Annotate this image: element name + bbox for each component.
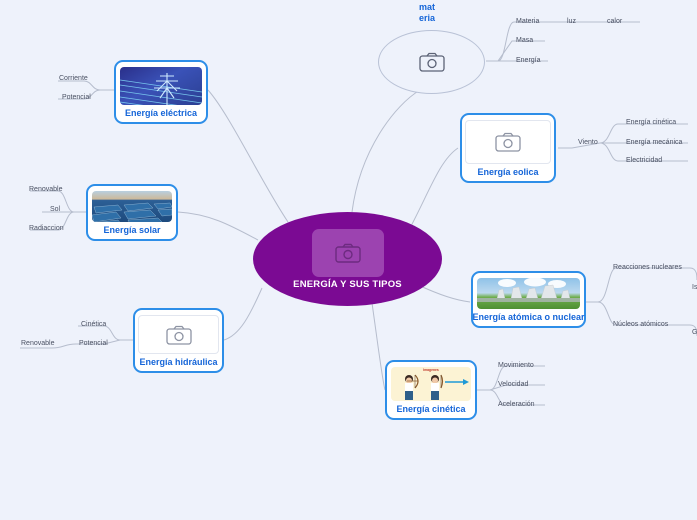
leaf-nucleos-atomicos[interactable]: Núcleos atómicos xyxy=(613,320,668,329)
leaf-calor[interactable]: calor xyxy=(607,17,622,26)
center-image-placeholder[interactable] xyxy=(312,229,384,277)
leaf-reacciones-nucleares[interactable]: Reacciones nucleares xyxy=(613,263,682,272)
leaf-viento[interactable]: Viento xyxy=(578,138,598,147)
node-label-energia-eolica: Energía eolica xyxy=(477,167,538,177)
node-energia-nuclear[interactable]: Energía atómica o nuclear xyxy=(471,271,586,328)
leaf-energia-mecanica[interactable]: Energía mecánica xyxy=(626,138,682,147)
leaf-nuclear-clipped-2[interactable]: Ga xyxy=(692,328,697,337)
leaf-velocidad[interactable]: Velocidad xyxy=(498,380,528,389)
nuclear-cooling-towers-photo xyxy=(477,278,580,309)
leaf-potencial-hidraulica[interactable]: Potencial xyxy=(79,339,108,348)
node-energia-hidraulica[interactable]: Energía hidráulica xyxy=(133,308,224,373)
power-lines-photo xyxy=(120,67,202,105)
leaf-radiaccion[interactable]: Radiaccion xyxy=(29,224,64,233)
node-label-energia-electrica: Energía eléctrica xyxy=(125,108,197,118)
leaf-sol[interactable]: Sol xyxy=(50,205,60,214)
node-label-energia-nuclear: Energía atómica o nuclear xyxy=(472,312,584,322)
leaf-potencial-electrica[interactable]: Potencial xyxy=(62,93,91,102)
node-energia-electrica[interactable]: Energía eléctrica xyxy=(114,60,208,124)
leaf-renovable-solar[interactable]: Renovable xyxy=(29,185,62,194)
hidraulica-image-placeholder[interactable] xyxy=(138,315,219,354)
node-energia-cinetica[interactable]: Imagenes xyxy=(385,360,477,420)
center-node[interactable]: ENERGÍA Y SUS TIPOS xyxy=(253,212,442,306)
leaf-movimiento[interactable]: Movimiento xyxy=(498,361,534,370)
leaf-electricidad[interactable]: Electricidad xyxy=(626,156,662,165)
leaf-masa[interactable]: Masa xyxy=(516,36,533,45)
camera-placeholder-icon xyxy=(166,325,192,345)
materia-node-label: materia xyxy=(419,2,436,23)
archer-illustration-title: Imagenes xyxy=(391,368,471,372)
center-node-label: ENERGÍA Y SUS TIPOS xyxy=(293,279,402,290)
materia-node[interactable] xyxy=(378,30,485,94)
leaf-energia[interactable]: Energía xyxy=(516,56,541,65)
leaf-renovable-hidraulica[interactable]: Renovable xyxy=(21,339,54,348)
camera-placeholder-icon xyxy=(335,243,361,263)
leaf-nuclear-clipped-1[interactable]: Is xyxy=(692,283,697,292)
solar-panel-farm-photo xyxy=(92,191,172,222)
node-label-energia-cinetica: Energía cinética xyxy=(396,404,465,414)
camera-placeholder-icon xyxy=(419,52,445,72)
node-label-energia-solar: Energía solar xyxy=(103,225,160,235)
camera-placeholder-icon xyxy=(495,132,521,152)
leaf-materia[interactable]: Materia xyxy=(516,17,539,26)
leaf-cinetica-hidraulica[interactable]: Cinética xyxy=(81,320,106,329)
node-energia-solar[interactable]: Energía solar xyxy=(86,184,178,241)
mindmap-canvas[interactable]: ENERGÍA Y SUS TIPOS materia Materia luz … xyxy=(0,0,697,520)
node-label-energia-hidraulica: Energía hidráulica xyxy=(139,357,217,367)
node-energia-eolica[interactable]: Energía eolica xyxy=(460,113,556,183)
archer-illustration: Imagenes xyxy=(391,367,471,401)
leaf-aceleracion[interactable]: Aceleración xyxy=(498,400,535,409)
eolica-image-placeholder[interactable] xyxy=(465,120,551,164)
leaf-luz[interactable]: luz xyxy=(567,17,576,26)
leaf-corriente[interactable]: Corriente xyxy=(59,74,88,83)
leaf-energia-cinetica-eolica[interactable]: Energía cinética xyxy=(626,118,676,127)
